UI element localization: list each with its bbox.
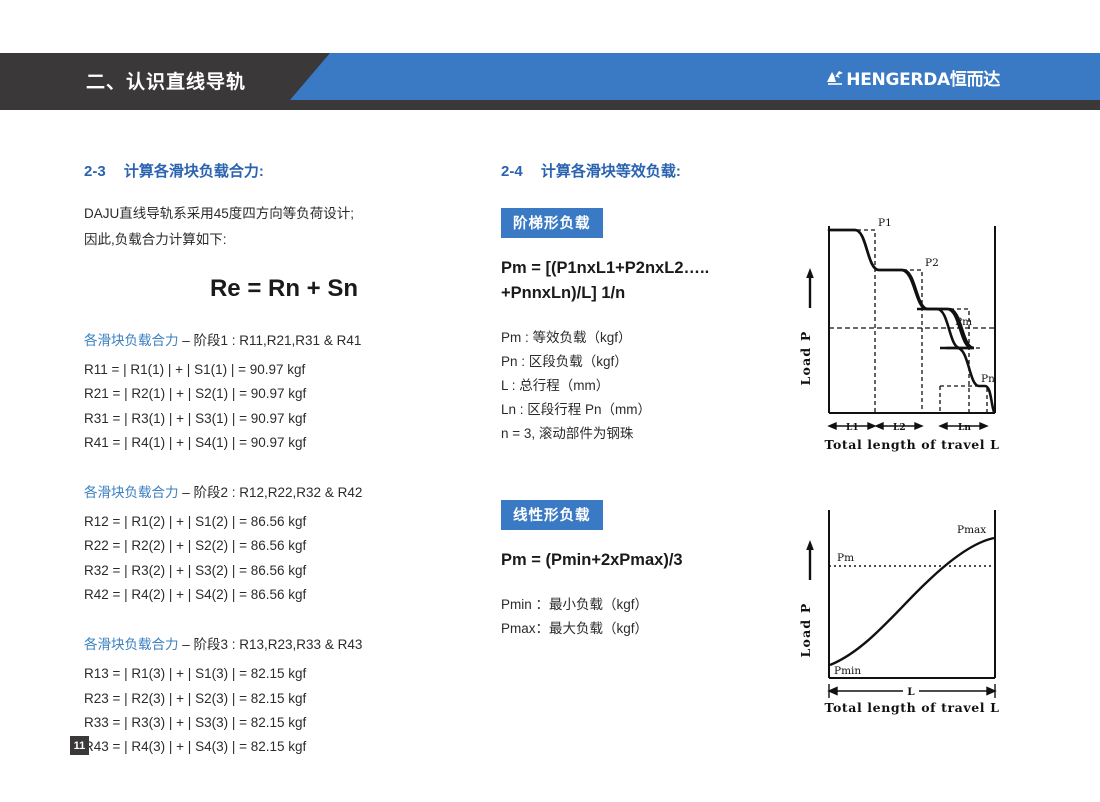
stage-title-cn-1: 各滑块负载合力: [84, 333, 179, 348]
chart2-span-label: L: [907, 686, 915, 698]
stepped-load-badge: 阶梯形负载: [501, 208, 603, 238]
right-column: 2-4 计算各滑块等效负载: 阶梯形负载 Pm = [(P1nxL1+P2nxL…: [501, 160, 1061, 201]
stage-title-cn-3: 各滑块负载合力: [84, 637, 179, 652]
chart2-label-pmin: Pmin: [834, 665, 861, 677]
chart2-label-pmax: Pmax: [957, 524, 986, 536]
chapter-title: 二、认识直线导轨: [86, 67, 246, 94]
section-title: 计算各滑块负载合力:: [124, 163, 264, 180]
chart2-label-pm: Pm: [837, 552, 854, 564]
chart1-label-pm: Pm: [955, 316, 972, 328]
linear-load-badge: 线性形负载: [501, 500, 603, 530]
stage-block-2: 各滑块负载合力 – 阶段2 : R12,R22,R32 & R42 R12 = …: [84, 481, 484, 607]
stage-equation: R23 = | R2(3) | + | S2(3) | = 82.15 kgf: [84, 687, 484, 711]
page-header: 二、认识直线导轨 HENGERDA恒而达: [0, 53, 1100, 110]
stage-equation: R31 = | R3(1) | + | S3(1) | = 90.97 kgf: [84, 407, 484, 431]
stage-equation: R12 = | R1(2) | + | S1(2) | = 86.56 kgf: [84, 510, 484, 534]
section-number: 2-3: [84, 163, 106, 180]
stage-title-1: 各滑块负载合力 – 阶段1 : R11,R21,R31 & R41: [84, 329, 484, 349]
stage-equation: R32 = | R3(2) | + | S3(2) | = 86.56 kgf: [84, 559, 484, 583]
svg-text:Load P: Load P: [798, 603, 813, 658]
chart1-label-pn: Pn: [981, 373, 995, 385]
stage-equation: R42 = | R4(2) | + | S4(2) | = 86.56 kgf: [84, 583, 484, 607]
document-page: 二、认识直线导轨 HENGERDA恒而达 2-3 计算各滑块负载合力: DAJU…: [0, 0, 1100, 802]
linear-load-chart: Load P Pm Pmin Pmax: [797, 500, 1017, 725]
main-formula: Re = Rn + Sn: [84, 275, 484, 303]
linear-load-formula: Pm = (Pmin+2xPmax)/3: [501, 548, 791, 573]
definition-item: Pmin ：最小负载（kgf）: [501, 593, 791, 617]
stepped-load-formula: Pm = [(P1nxL1+P2nxL2….. +PnnxLn)/L] 1/n: [501, 256, 791, 306]
chart1-seg-l2: L2: [893, 423, 906, 433]
stage-equation: R33 = | R3(3) | + | S3(3) | = 82.15 kgf: [84, 711, 484, 735]
page-number-badge: 11: [70, 736, 89, 755]
chart1-seg-ln: Ln: [958, 423, 971, 433]
intro-paragraph: DAJU直线导轨系采用45度四方向等负荷设计; 因此,负载合力计算如下:: [84, 201, 484, 253]
chart2-x-axis-label: Total length of travel L: [825, 700, 1000, 715]
stage-title-rest-3: – 阶段3 : R13,R23,R33 & R43: [179, 637, 363, 652]
stepped-load-block: 阶梯形负载 Pm = [(P1nxL1+P2nxL2….. +PnnxLn)/L…: [501, 208, 791, 446]
intro-line-1: DAJU直线导轨系采用45度四方向等负荷设计;: [84, 201, 484, 227]
stepped-load-chart: Load P: [797, 208, 1017, 463]
stage-title-3: 各滑块负载合力 – 阶段3 : R13,R23,R33 & R43: [84, 633, 484, 653]
stage-equation: R22 = | R2(2) | + | S2(2) | = 86.56 kgf: [84, 534, 484, 558]
stage-title-rest-1: – 阶段1 : R11,R21,R31 & R41: [179, 333, 362, 348]
stage-equation: R21 = | R2(1) | + | S2(1) | = 90.97 kgf: [84, 382, 484, 406]
chart1-seg-l1: L1: [846, 423, 859, 433]
chart1-label-p1: P1: [878, 217, 892, 229]
eagle-logo-icon: [826, 69, 844, 87]
chart1-label-p2: P2: [925, 257, 939, 269]
definition-item: Pn : 区段负载（kgf）: [501, 350, 791, 374]
svg-text:Load P: Load P: [798, 331, 813, 386]
stage-equation: R13 = | R1(3) | + | S1(3) | = 82.15 kgf: [84, 662, 484, 686]
section-heading-2-4: 2-4 计算各滑块等效负载:: [501, 160, 1061, 181]
intro-line-2: 因此,负载合力计算如下:: [84, 227, 484, 253]
linear-load-block: 线性形负载 Pm = (Pmin+2xPmax)/3 Pmin ：最小负载（kg…: [501, 500, 791, 641]
stage-block-3: 各滑块负载合力 – 阶段3 : R13,R23,R33 & R43 R13 = …: [84, 633, 484, 759]
stage-equation: R11 = | R1(1) | + | S1(1) | = 90.97 kgf: [84, 358, 484, 382]
definition-item: n = 3, 滚动部件为钢珠: [501, 422, 791, 446]
stepped-load-definitions: Pm : 等效负载（kgf） Pn : 区段负载（kgf） L : 总行程（mm…: [501, 326, 791, 446]
chart1-y-axis-label: Load P: [798, 268, 814, 385]
stage-title-rest-2: – 阶段2 : R12,R22,R32 & R42: [179, 485, 363, 500]
stage-title-cn-2: 各滑块负载合力: [84, 485, 179, 500]
brand-logo-text: HENGERDA恒而达: [846, 65, 1000, 90]
chart1-x-axis-label: Total length of travel L: [825, 437, 1000, 452]
definition-item: Pmax：最大负载（kgf）: [501, 617, 791, 641]
section-number: 2-4: [501, 163, 523, 180]
chart2-y-axis-label: Load P: [798, 540, 814, 657]
brand-logo: HENGERDA恒而达: [826, 65, 1000, 90]
definition-item: L : 总行程（mm）: [501, 374, 791, 398]
linear-load-definitions: Pmin ：最小负载（kgf） Pmax：最大负载（kgf）: [501, 593, 791, 641]
stage-equation: R43 = | R4(3) | + | S4(3) | = 82.15 kgf: [84, 735, 484, 759]
section-heading-2-3: 2-3 计算各滑块负载合力:: [84, 160, 484, 181]
stage-title-2: 各滑块负载合力 – 阶段2 : R12,R22,R32 & R42: [84, 481, 484, 501]
section-title: 计算各滑块等效负载:: [541, 163, 681, 180]
left-column: 2-3 计算各滑块负载合力: DAJU直线导轨系采用45度四方向等负荷设计; 因…: [84, 160, 484, 786]
definition-item: Pm : 等效负载（kgf）: [501, 326, 791, 350]
stage-equation: R41 = | R4(1) | + | S4(1) | = 90.97 kgf: [84, 431, 484, 455]
definition-item: Ln : 区段行程 Pn（mm）: [501, 398, 791, 422]
stage-block-1: 各滑块负载合力 – 阶段1 : R11,R21,R31 & R41 R11 = …: [84, 329, 484, 455]
